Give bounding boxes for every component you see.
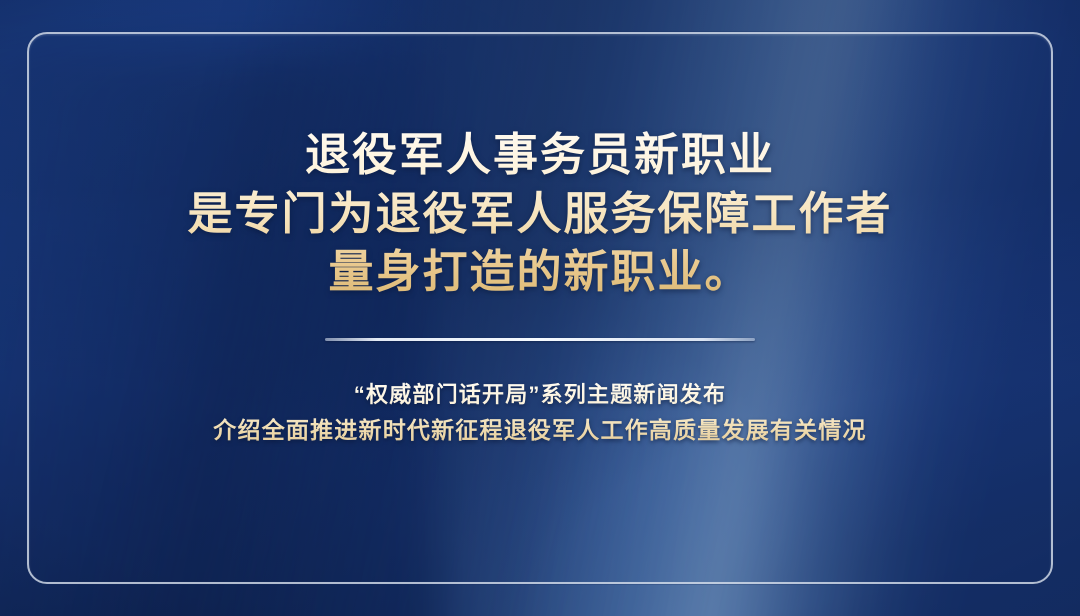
headline-line-3: 量身打造的新职业。 bbox=[187, 243, 892, 302]
subtitle-line-2: 介绍全面推进新时代新征程退役军人工作高质量发展有关情况 bbox=[213, 412, 866, 449]
headline-line-1: 退役军人事务员新职业 bbox=[187, 126, 892, 185]
divider-container bbox=[325, 338, 755, 341]
poster-content: 退役军人事务员新职业 是专门为退役军人服务保障工作者 量身打造的新职业。 “权威… bbox=[0, 0, 1080, 616]
divider-rule bbox=[325, 338, 755, 341]
poster-canvas: 退役军人事务员新职业 是专门为退役军人服务保障工作者 量身打造的新职业。 “权威… bbox=[0, 0, 1080, 616]
headline: 退役军人事务员新职业 是专门为退役军人服务保障工作者 量身打造的新职业。 bbox=[187, 126, 892, 302]
subtitle-line-1: “权威部门话开局”系列主题新闻发布 bbox=[213, 377, 866, 413]
headline-line-2: 是专门为退役军人服务保障工作者 bbox=[187, 185, 892, 244]
subtitle: “权威部门话开局”系列主题新闻发布 介绍全面推进新时代新征程退役军人工作高质量发… bbox=[213, 377, 866, 450]
